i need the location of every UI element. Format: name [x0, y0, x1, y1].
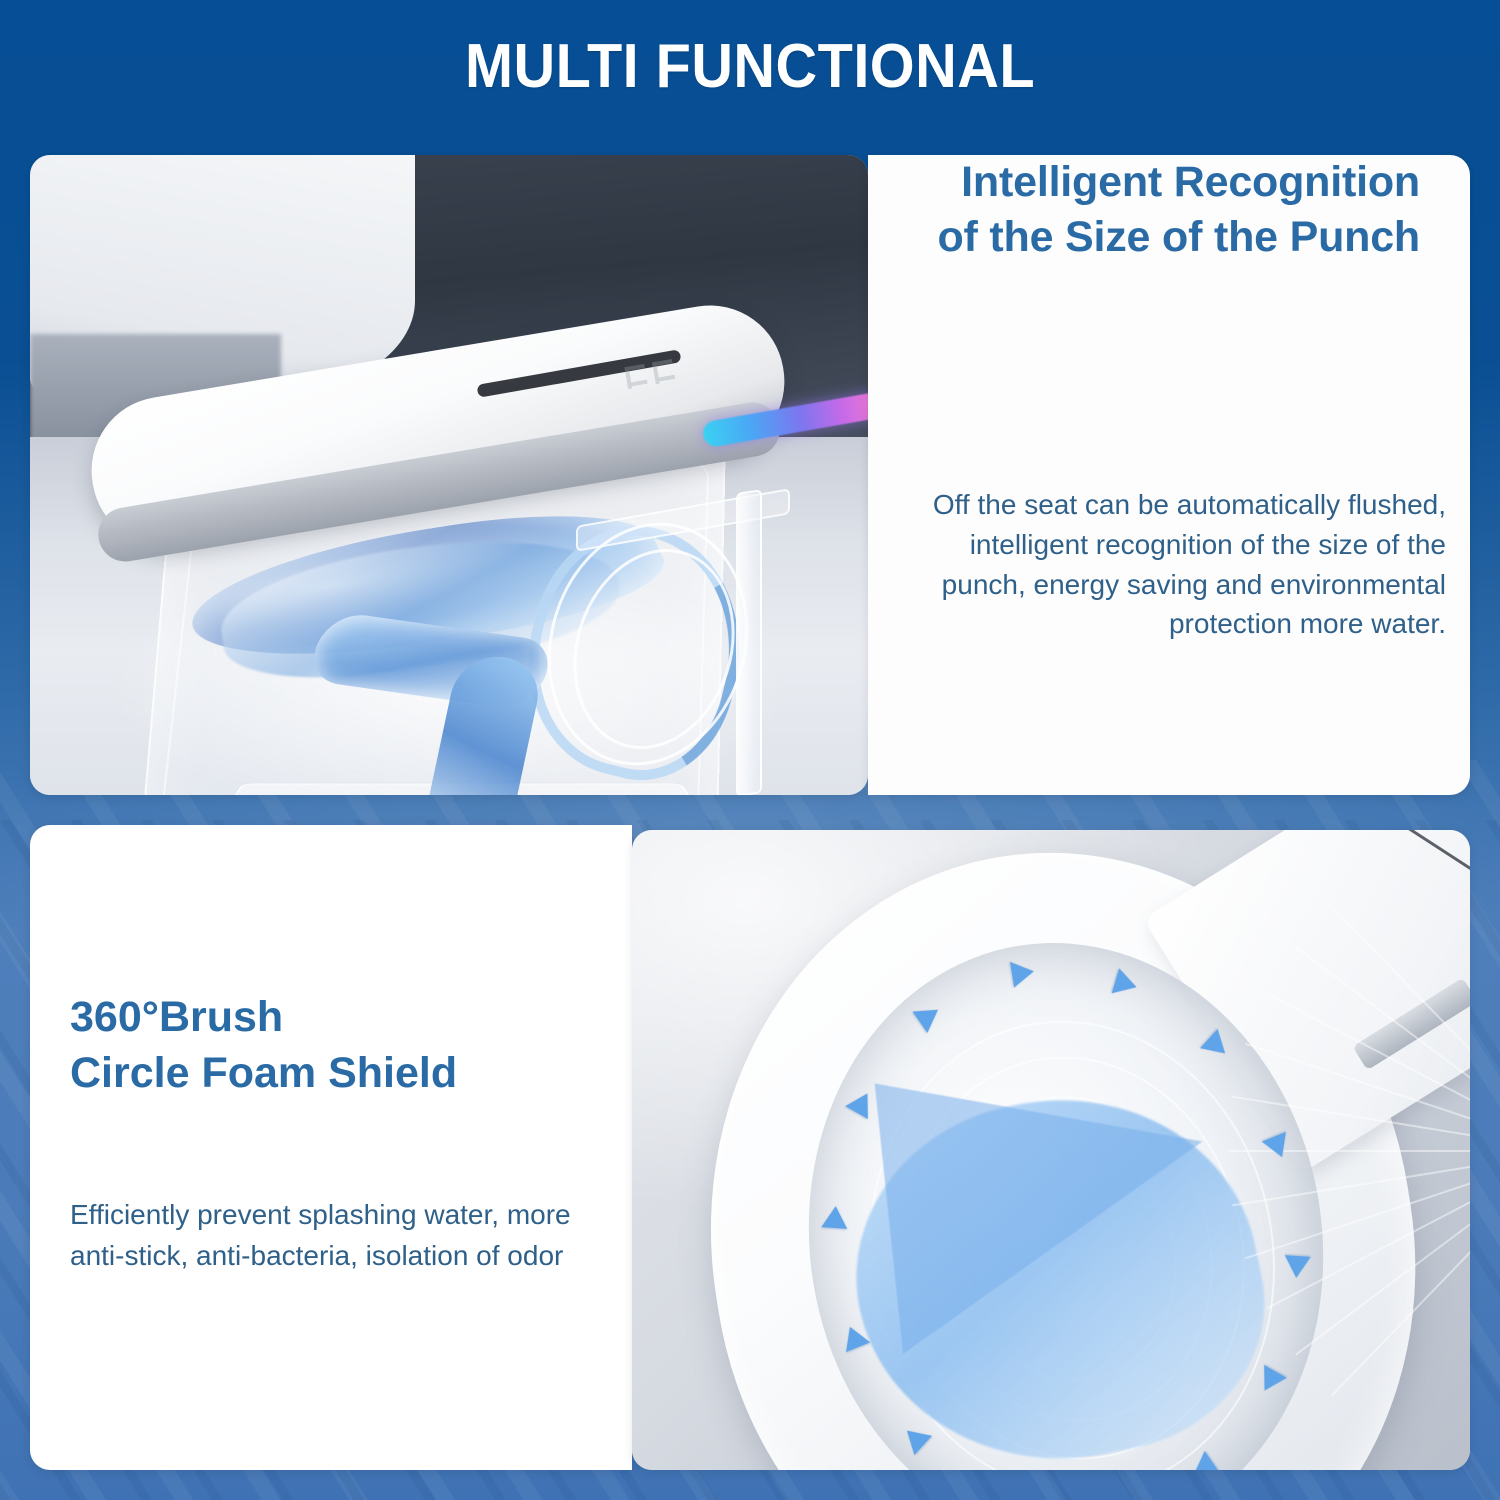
product-feature-page: MULTI FUNCTIONAL: [0, 0, 1500, 1500]
page-title: MULTI FUNCTIONAL: [53, 36, 1448, 98]
foam-shield-fan-line: [1228, 1150, 1470, 1152]
circulation-arrow: [821, 1205, 848, 1229]
feature-text-circle-foam-shield: 360°Brush Circle Foam Shield Efficiently…: [30, 825, 632, 1470]
feature-image-intelligent-recognition: [30, 155, 868, 795]
foam-shield-cone: [875, 1050, 1222, 1354]
feature-heading-circle-foam-shield: 360°Brush Circle Foam Shield: [70, 990, 610, 1102]
feature-body-intelligent-recognition: Off the seat can be automatically flushe…: [894, 485, 1446, 644]
feature-image-circle-foam-shield: [632, 830, 1470, 1470]
circulation-arrow: [1283, 1255, 1310, 1279]
cutaway-toilet-illustration: [30, 155, 868, 795]
feature-body-circle-foam-shield: Efficiently prevent splashing water, mor…: [70, 1195, 630, 1276]
internal-post: [736, 489, 762, 795]
feature-text-intelligent-recognition: Intelligent Recognition of the Size of t…: [868, 155, 1470, 795]
bowl-topdown-illustration: [632, 830, 1470, 1470]
feature-heading-intelligent-recognition: Intelligent Recognition of the Size of t…: [868, 155, 1420, 265]
circulation-arrow: [1011, 959, 1037, 988]
